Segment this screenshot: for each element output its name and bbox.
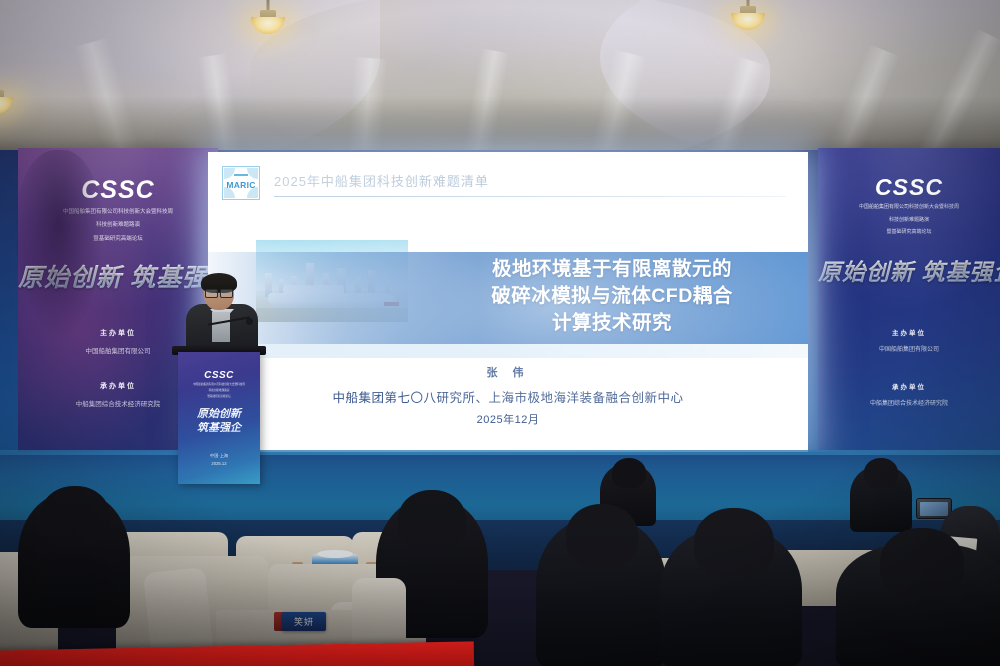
audience-head bbox=[864, 458, 898, 488]
author-organization: 中船集团第七〇八研究所、上海市极地海洋装备融合创新中心 bbox=[208, 387, 808, 406]
slide-header: MARIC 2025年中船集团科技创新难题清单 bbox=[222, 166, 786, 200]
draped-ceiling bbox=[0, 0, 1000, 165]
slide-author-block: 张 伟 中船集团第七〇八研究所、上海市极地海洋装备融合创新中心 2025年12月 bbox=[208, 364, 808, 427]
author-name: 张 伟 bbox=[208, 364, 808, 380]
slide-title: 极地环境基于有限离散元的 破碎冰模拟与流体CFD耦合 计算技术研究 bbox=[436, 256, 788, 337]
backdrop-right-organizer-name: 中船集团综合技术经济研究院 bbox=[818, 398, 1000, 407]
backdrop-banner-right: CSSC 中国船舶集团有限公司科技创新大会暨科技周 科技创新难题路演 暨基础研究… bbox=[818, 148, 1000, 480]
backdrop-right-subtitle-3: 暨基础研究高端论坛 bbox=[818, 229, 1000, 237]
backdrop-silhouette-shadow bbox=[14, 150, 104, 335]
audience-head bbox=[566, 504, 638, 568]
maric-logo-icon: MARIC bbox=[222, 166, 260, 200]
speaker-shirt bbox=[212, 312, 230, 342]
backdrop-right-subtitle-2: 科技创新难题路演 bbox=[818, 217, 1000, 225]
eyeglasses-icon bbox=[205, 289, 233, 296]
slide-title-line-3: 计算技术研究 bbox=[436, 310, 788, 337]
maric-logo-text: MARIC bbox=[226, 180, 255, 190]
name-placard: 笑妍 bbox=[282, 612, 326, 631]
backdrop-right-organizer-label: 承办单位 bbox=[818, 381, 1000, 391]
podium-subtitle-1: 中国船舶集团有限公司科技创新大会暨科技周 bbox=[178, 383, 260, 387]
podium-subtitle-2: 科技创新难题路演 bbox=[178, 389, 260, 393]
backdrop-right-subtitle-1: 中国船舶集团有限公司科技创新大会暨科技周 bbox=[818, 204, 1000, 212]
presentation-slide: MARIC 2025年中船集团科技创新难题清单 bbox=[208, 152, 808, 452]
microphone-icon bbox=[246, 318, 253, 325]
podium-subtitle-3: 暨基础研究高端论坛 bbox=[178, 395, 260, 399]
backdrop-right-host-label: 主办单位 bbox=[818, 327, 1000, 337]
audience-head bbox=[612, 458, 646, 488]
podium-slogan-line-1: 原始创新 bbox=[178, 408, 260, 422]
slide-title-line-2: 破碎冰模拟与流体CFD耦合 bbox=[436, 283, 788, 310]
projection-screen: MARIC 2025年中船集团科技创新难题清单 bbox=[208, 152, 808, 452]
presentation-date: 2025年12月 bbox=[208, 411, 808, 427]
podium-cssc-logo: CSSC bbox=[178, 370, 260, 381]
audience-head bbox=[40, 486, 110, 548]
audience-head bbox=[398, 490, 466, 550]
conference-hall-scene: CSSC 中国船舶集团有限公司科技创新大会暨科技周 科技创新难题路演 暨基础研究… bbox=[0, 0, 1000, 666]
backdrop-right-host-name: 中国船舶集团有限公司 bbox=[818, 344, 1000, 353]
audience-head bbox=[694, 508, 774, 578]
audience-foreground: 笑妍 bbox=[0, 452, 1000, 666]
podium-slogan-line-2: 筑基强企 bbox=[178, 422, 260, 436]
audience-head bbox=[880, 528, 964, 598]
slide-title-line-1: 极地环境基于有限离散元的 bbox=[436, 256, 788, 283]
slide-header-title: 2025年中船集团科技创新难题清单 bbox=[274, 171, 489, 190]
slide-title-underband bbox=[208, 344, 808, 358]
slide-header-divider bbox=[274, 196, 786, 197]
